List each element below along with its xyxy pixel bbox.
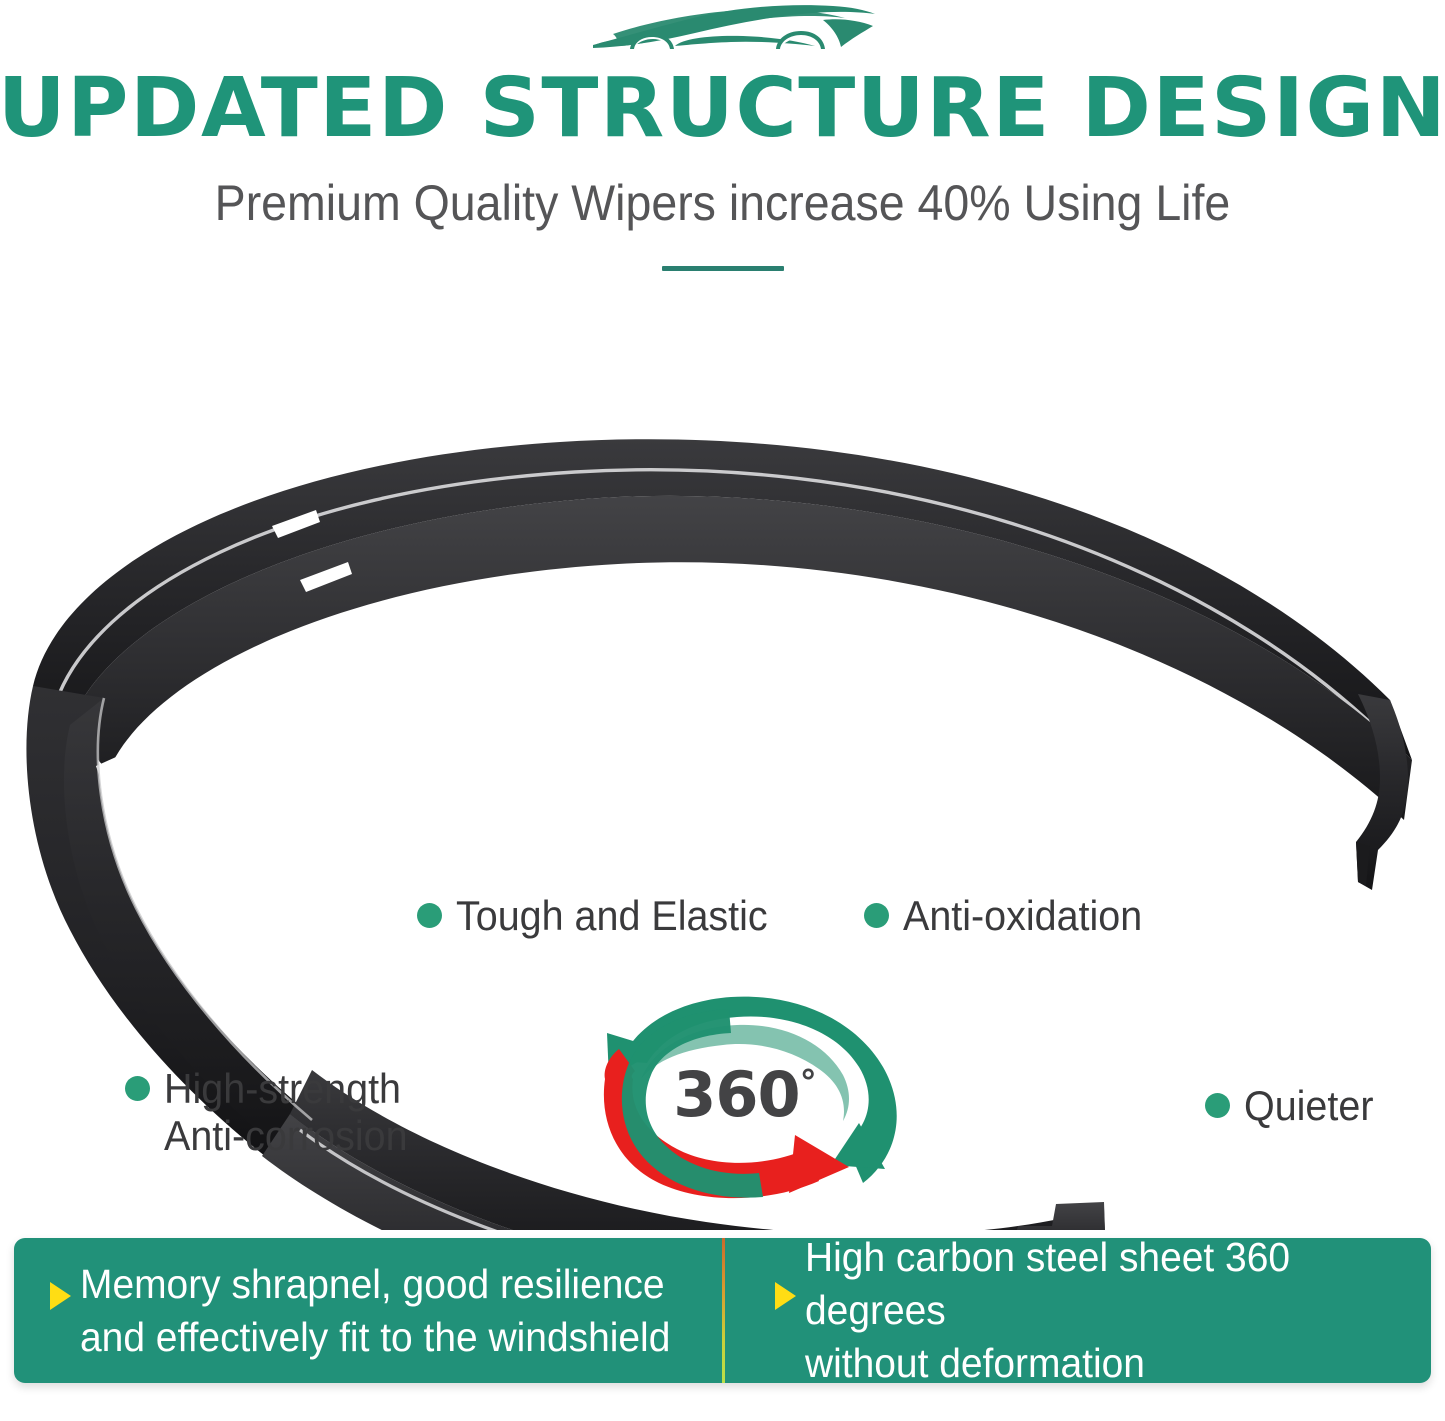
badge-360-label: 360° (655, 1047, 835, 1131)
feature-text: High-strength Anti-corrosion (164, 1065, 408, 1159)
feature-label-quieter: Quieter (1205, 1082, 1382, 1129)
triangle-bullet-icon (775, 1282, 796, 1310)
badge-value: 360 (673, 1058, 799, 1131)
car-silhouette-icon (583, 2, 883, 60)
banner-text: Memory shrapnel, good resilience and eff… (80, 1258, 670, 1364)
feature-text: Tough and Elastic (456, 892, 768, 939)
bullet-dot-icon (125, 1076, 150, 1101)
bullet-dot-icon (864, 903, 889, 928)
feature-text: Anti-oxidation (903, 892, 1142, 939)
triangle-bullet-icon (50, 1282, 71, 1310)
degree-symbol-icon: ° (800, 1063, 817, 1103)
title-divider (662, 266, 784, 271)
bullet-dot-icon (1205, 1093, 1230, 1118)
feature-label-anti-oxidation: Anti-oxidation (864, 892, 1157, 939)
page-subtitle: Premium Quality Wipers increase 40% Usin… (51, 172, 1395, 234)
feature-label-high-strength: High-strength Anti-corrosion (125, 1065, 423, 1159)
product-hero-section: High-strength Anti-corrosion Tough and E… (0, 330, 1445, 1230)
feature-label-tough-elastic: Tough and Elastic (417, 892, 788, 939)
feature-text: Quieter (1244, 1082, 1373, 1129)
header-section: UPDATED STRUCTURE DESIGN Premium Quality… (0, 0, 1445, 300)
page-title: UPDATED STRUCTURE DESIGN (0, 62, 1445, 156)
banner-item-memory-shrapnel: Memory shrapnel, good resilience and eff… (14, 1238, 723, 1383)
bullet-dot-icon (417, 903, 442, 928)
banner-text: High carbon steel sheet 360 degrees with… (805, 1231, 1400, 1390)
banner-item-high-carbon-steel: High carbon steel sheet 360 degrees with… (723, 1238, 1432, 1383)
bottom-feature-banner: Memory shrapnel, good resilience and eff… (14, 1238, 1431, 1383)
